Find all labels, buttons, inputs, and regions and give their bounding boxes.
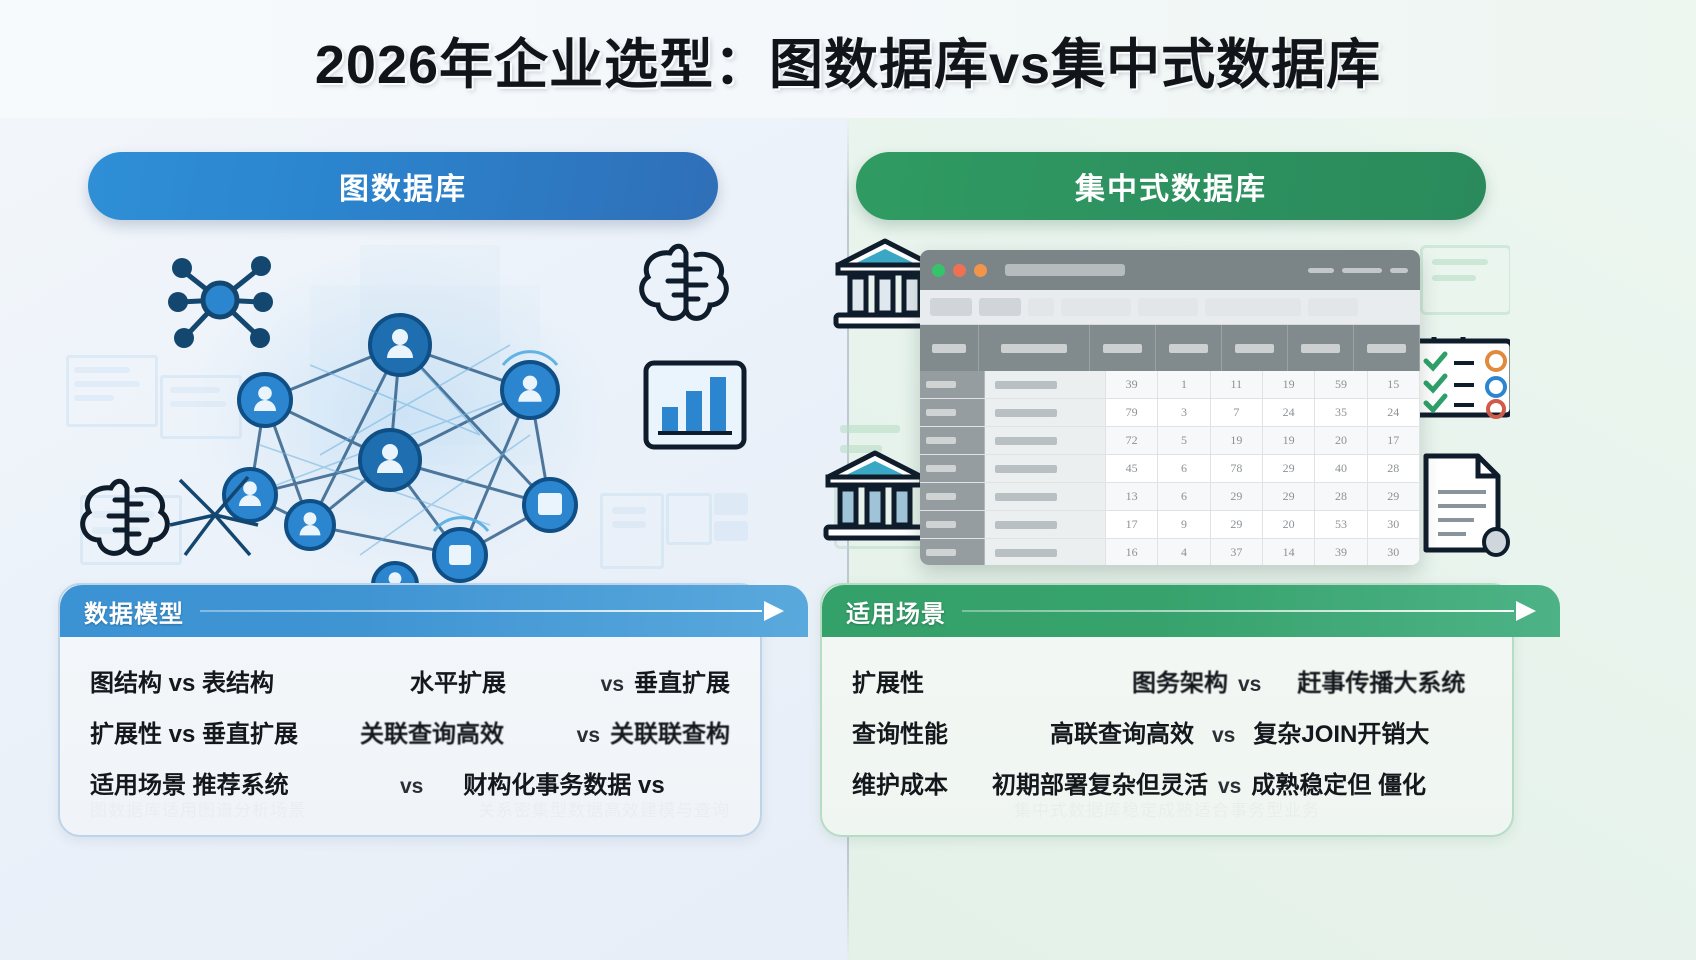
left-row-1-vs: vs	[567, 724, 610, 748]
table-cell: 40	[1315, 455, 1367, 482]
table-row[interactable]: 7937243524	[920, 399, 1420, 427]
table-cell: 29	[1211, 483, 1263, 510]
bank-icon-secondary	[822, 447, 928, 543]
left-row-2-c1: 适用场景 推荐系统	[90, 765, 350, 800]
left-row-2-c2b: 财构化事务数据 vs	[463, 765, 664, 800]
table-cell: 19	[1263, 371, 1315, 398]
list-item: 查询性能 高联查询高效 vs 复杂JOIN开销大	[852, 714, 1482, 749]
table-cell: 35	[1315, 399, 1367, 426]
bar-chart-icon	[640, 355, 750, 455]
right-rows: 扩展性 图务架构 vs 赶事传播大系统 查询性能 高联查询高效 vs 复杂JOI…	[822, 637, 1512, 816]
left-header-label: 图数据库	[339, 164, 467, 208]
table-row[interactable]: 45678294028	[920, 455, 1420, 483]
left-row-0-c1: 图结构 vs 表结构	[90, 663, 240, 698]
table-row[interactable]: 16437143930	[920, 539, 1420, 565]
table-cell: 17	[1106, 511, 1158, 538]
right-card-banner: 适用场景	[822, 585, 1560, 637]
right-row-0-c2a: 图务架构	[1132, 663, 1228, 698]
ghost-bar	[1432, 259, 1488, 265]
title-bar: 2026年企业选型：图数据库vs集中式数据库	[0, 0, 1696, 118]
left-comparison-card: 数据模型 图结构 vs 表结构 水平扩展 vs 垂直扩展 扩展性 vs 垂直扩展…	[58, 583, 762, 837]
table-header-cell	[1090, 325, 1156, 371]
table-cell: 24	[1368, 399, 1420, 426]
arrow-right-icon	[962, 601, 1536, 621]
left-row-0-c2a: 水平扩展	[410, 663, 591, 698]
table-cell: 17	[1368, 427, 1420, 454]
table-cell: 30	[1368, 511, 1420, 538]
right-header-label: 集中式数据库	[1075, 164, 1267, 208]
table-cell-name	[985, 427, 1106, 454]
list-item: 适用场景 推荐系统 vs 财构化事务数据 vs	[90, 765, 730, 800]
table-row-index	[920, 539, 985, 565]
table-cell: 19	[1263, 427, 1315, 454]
table-row-index	[920, 427, 985, 454]
table-cell: 9	[1158, 511, 1210, 538]
window-control-bar[interactable]	[1390, 268, 1408, 273]
table-cell: 37	[1211, 539, 1263, 565]
right-card-ghost-text: 集中式数据库稳定成熟适合事务型业务	[852, 796, 1482, 821]
right-row-1-c2a: 高联查询高效	[1050, 714, 1194, 749]
brain-icon-secondary	[70, 470, 182, 570]
right-row-1-c1: 查询性能	[852, 714, 1002, 749]
centralized-db-illustration: 3911119591579372435247251919201745678294…	[820, 225, 1510, 595]
right-header-pill: 集中式数据库	[856, 152, 1486, 220]
table-cell: 29	[1211, 511, 1263, 538]
infographic-canvas: 2026年企业选型：图数据库vs集中式数据库 图数据库 集中式数据库	[0, 0, 1696, 960]
table-row-index	[920, 483, 985, 510]
table-cell-name	[985, 539, 1106, 565]
arrow-right-icon	[200, 601, 784, 621]
table-cell: 30	[1368, 539, 1420, 565]
table-cell: 1	[1158, 371, 1210, 398]
table-row-index	[920, 511, 985, 538]
table-header-cell	[1288, 325, 1354, 371]
table-cell-name	[985, 371, 1106, 398]
table-cell: 72	[1106, 427, 1158, 454]
table-cell-name	[985, 455, 1106, 482]
table-row-index	[920, 455, 985, 482]
list-item: 图结构 vs 表结构 水平扩展 vs 垂直扩展	[90, 663, 730, 698]
page-title: 2026年企业选型：图数据库vs集中式数据库	[315, 20, 1381, 99]
table-row[interactable]: 13629292829	[920, 483, 1420, 511]
table-cell: 59	[1315, 371, 1367, 398]
right-row-0-c2b: 赶事传播大系统	[1297, 663, 1465, 698]
graph-network-illustration	[60, 225, 760, 595]
table-row-index	[920, 371, 985, 398]
left-row-0-vs: vs	[591, 673, 634, 697]
window-dot-green[interactable]	[932, 264, 945, 277]
window-titlebar	[920, 250, 1420, 290]
ghost-bar	[840, 425, 900, 433]
list-item: 扩展性 图务架构 vs 赶事传播大系统	[852, 663, 1482, 698]
left-ghost-left: 图数据库适用图谱分析场景	[90, 796, 306, 821]
table-cell: 3	[1158, 399, 1210, 426]
toolbar-button[interactable]	[930, 298, 972, 316]
table-cell: 28	[1315, 483, 1367, 510]
table-cell: 45	[1106, 455, 1158, 482]
table-header-cell	[920, 325, 979, 371]
left-row-0-c2b: 垂直扩展	[634, 663, 730, 698]
right-row-0-c1: 扩展性	[852, 663, 1002, 698]
left-header-pill: 图数据库	[88, 152, 718, 220]
right-row-1-c2b: 复杂JOIN开销大	[1253, 714, 1429, 749]
toolbar-button[interactable]	[979, 298, 1021, 316]
table-cell: 53	[1315, 511, 1367, 538]
left-row-1-c2a: 关联查询高效	[360, 714, 567, 749]
node-cluster-icon	[160, 240, 280, 360]
checklist-board-icon	[1410, 335, 1510, 427]
table-cell: 39	[1106, 371, 1158, 398]
toolbar-button[interactable]	[1205, 298, 1301, 316]
list-item: 扩展性 vs 垂直扩展 关联查询高效 vs 关联联查构	[90, 714, 730, 749]
table-cell: 11	[1211, 371, 1263, 398]
window-dot-orange[interactable]	[974, 264, 987, 277]
table-cell: 15	[1368, 371, 1420, 398]
left-row-1-c2b: 关联联查构	[610, 714, 730, 749]
left-banner-label: 数据模型	[84, 594, 184, 629]
window-title-placeholder	[1005, 264, 1125, 276]
table-row[interactable]: 72519192017	[920, 427, 1420, 455]
table-cell: 14	[1263, 539, 1315, 565]
right-comparison-card: 适用场景 扩展性 图务架构 vs 赶事传播大系统 查询性能 高联查询高效 vs …	[820, 583, 1514, 837]
toolbar-button[interactable]	[1028, 298, 1054, 316]
table-header-row	[920, 325, 1420, 371]
toolbar-button[interactable]	[1308, 298, 1358, 316]
table-cell: 28	[1368, 455, 1420, 482]
window-controls	[1308, 268, 1408, 273]
table-header-cell	[1354, 325, 1420, 371]
table-cell: 20	[1315, 427, 1367, 454]
right-ghost-right: 集中式数据库稳定成熟适合事务型业务	[1014, 796, 1320, 821]
table-cell-name	[985, 511, 1106, 538]
table-cell: 6	[1158, 483, 1210, 510]
table-cell: 39	[1315, 539, 1367, 565]
table-row[interactable]: 17929205330	[920, 511, 1420, 539]
table-row-index	[920, 399, 985, 426]
table-cell: 78	[1211, 455, 1263, 482]
brain-icon	[630, 235, 740, 335]
document-icon	[1416, 450, 1510, 558]
right-row-1-vs: vs	[1194, 724, 1253, 748]
right-banner-label: 适用场景	[846, 594, 946, 629]
table-cell: 79	[1106, 399, 1158, 426]
window-dot-red[interactable]	[953, 264, 966, 277]
table-header-cell	[1222, 325, 1288, 371]
database-table-window[interactable]: 3911119591579372435247251919201745678294…	[920, 250, 1420, 565]
table-cell: 4	[1158, 539, 1210, 565]
table-cell: 29	[1263, 455, 1315, 482]
table-header-cell	[1156, 325, 1222, 371]
table-row[interactable]: 39111195915	[920, 371, 1420, 399]
table-cell: 13	[1106, 483, 1158, 510]
table-cell-name	[985, 399, 1106, 426]
table-cell: 29	[1263, 483, 1315, 510]
table-cell: 6	[1158, 455, 1210, 482]
table-cell: 7	[1211, 399, 1263, 426]
ghost-bar	[1432, 275, 1476, 281]
table-cell: 19	[1211, 427, 1263, 454]
right-row-2-c2b: 成熟稳定但 僵化	[1251, 765, 1426, 800]
toolbar-button[interactable]	[1061, 298, 1131, 316]
table-cell: 20	[1263, 511, 1315, 538]
table-cell-name	[985, 483, 1106, 510]
window-control-bar[interactable]	[1342, 268, 1382, 273]
right-row-2-c2a: 初期部署复杂但灵活	[992, 765, 1208, 800]
right-row-2-c1: 维护成本	[852, 765, 992, 800]
left-ghost-right: 关系密集型数据高效建模与查询	[478, 796, 730, 821]
table-body: 3911119591579372435247251919201745678294…	[920, 371, 1420, 565]
toolbar-button[interactable]	[1138, 298, 1198, 316]
table-cell: 24	[1263, 399, 1315, 426]
left-card-banner: 数据模型	[60, 585, 808, 637]
list-item: 维护成本 初期部署复杂但灵活 vs 成熟稳定但 僵化	[852, 765, 1482, 800]
table-cell: 5	[1158, 427, 1210, 454]
table-header-cell	[979, 325, 1090, 371]
table-cell: 29	[1368, 483, 1420, 510]
window-toolbar[interactable]	[920, 290, 1420, 325]
left-row-1-c1: 扩展性 vs 垂直扩展	[90, 714, 240, 749]
window-control-bar[interactable]	[1308, 268, 1334, 273]
left-rows: 图结构 vs 表结构 水平扩展 vs 垂直扩展 扩展性 vs 垂直扩展 关联查询…	[60, 637, 760, 816]
right-row-0-vs: vs	[1228, 673, 1271, 697]
left-card-ghost-text: 图数据库适用图谱分析场景 关系密集型数据高效建模与查询	[90, 796, 730, 821]
table-cell: 16	[1106, 539, 1158, 565]
